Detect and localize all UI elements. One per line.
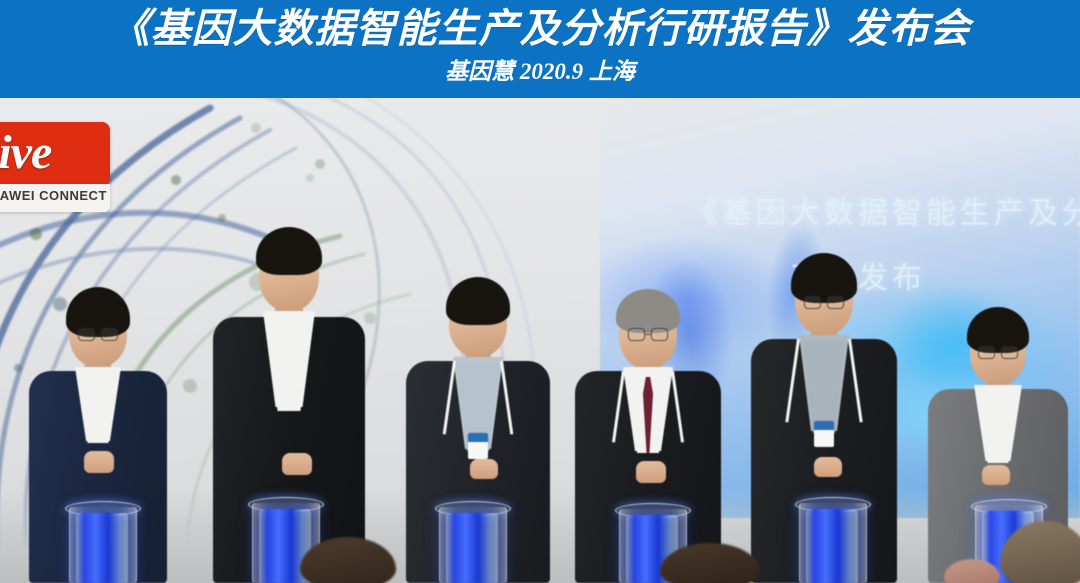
person-5-glasses-icon: [800, 293, 848, 311]
person-1-glasses-icon: [75, 325, 121, 343]
person-1-hand: [84, 451, 114, 473]
live-badge-red-box: live: [0, 122, 110, 184]
person-5-hand: [814, 457, 842, 477]
launch-pillar-3[interactable]: [446, 507, 498, 583]
launch-pillar-1-glow: [76, 513, 128, 583]
live-badge-word: live: [0, 124, 51, 182]
live-badge-caption: HUAWEI CONNECT: [0, 188, 107, 203]
title-banner: 《基因大数据智能生产及分析行研报告》发布会 基因慧 2020.9 上海: [0, 0, 1080, 98]
launch-pillar-5-glow: [806, 509, 858, 583]
page-title: 《基因大数据智能生产及分析行研报告》发布会: [0, 4, 1080, 54]
live-badge-caption-box: HUAWEI CONNECT: [0, 184, 110, 212]
person-6-glasses-icon: [975, 343, 1021, 361]
person-3-hair: [446, 277, 510, 325]
person-6-hand: [982, 465, 1010, 485]
person-4-glasses-icon: [624, 325, 672, 343]
screenshot-root: 《基因大数据智能生产及分析行研报告》发布会 基因慧 2020.9 上海: [0, 0, 1080, 583]
screen-headline: 《基因大数据智能生产及分析: [688, 188, 1080, 232]
person-3-badge: [468, 433, 488, 459]
person-2-hand: [282, 453, 312, 475]
launch-pillar-1[interactable]: [76, 507, 128, 583]
person-3-lanyard: [453, 361, 503, 435]
person-3-hand: [470, 459, 498, 479]
person-2-hair: [256, 227, 322, 275]
page-subtitle: 基因慧 2020.9 上海: [0, 57, 1080, 87]
launch-pillar-5[interactable]: [806, 503, 858, 583]
event-photo: 《基因大数据智能生产及分析 正式发布 live HUAWEI CONNECT: [0, 98, 1080, 583]
person-5-lanyard: [797, 339, 851, 423]
huawei-live-badge: live HUAWEI CONNECT: [0, 122, 110, 212]
person-5-badge: [814, 421, 834, 447]
launch-pillar-3-glow: [446, 513, 498, 583]
person-4-hand: [636, 461, 666, 483]
